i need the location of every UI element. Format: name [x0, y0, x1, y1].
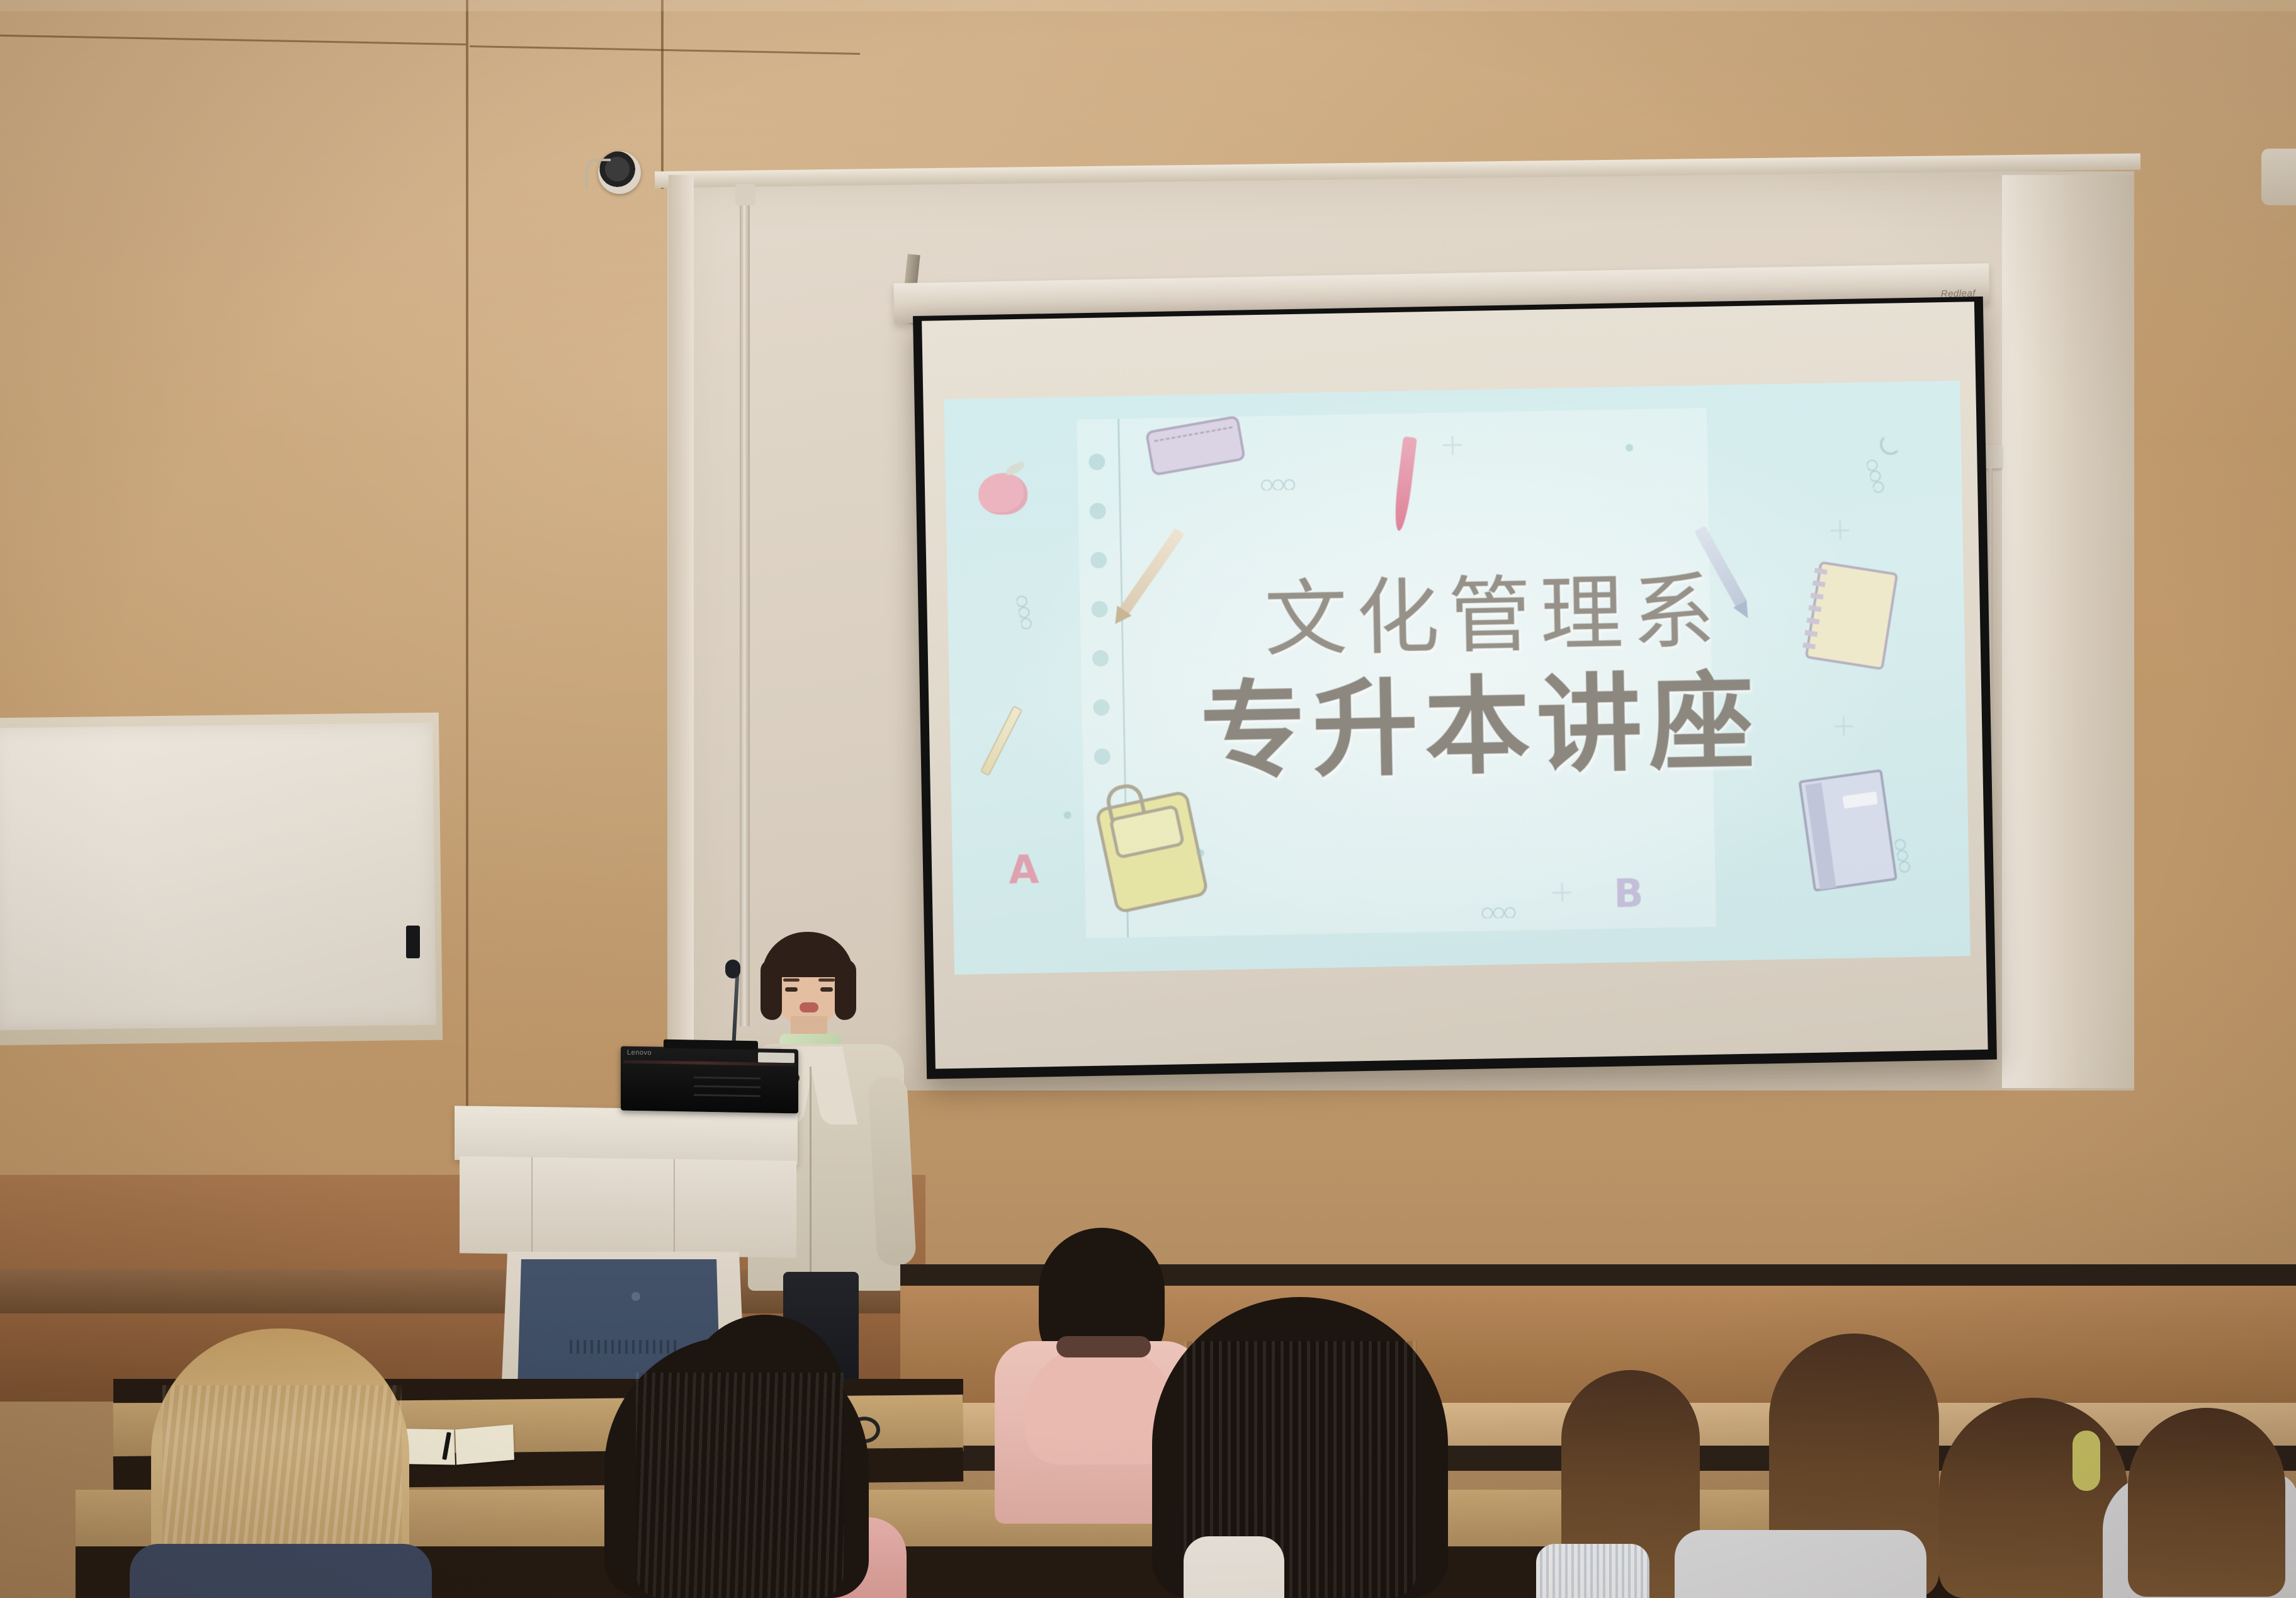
audience-shirt-stripe-right [1536, 1544, 1649, 1598]
open-notebook[interactable] [396, 1426, 517, 1466]
podium-monitor[interactable]: Lenovo [621, 1046, 798, 1114]
wall-panel-seam-vertical-2 [661, 0, 664, 189]
notebook-page-right [455, 1424, 514, 1465]
lecture-hall-photo: Redleaf A B [0, 0, 2296, 1598]
presenter-brow-right [818, 978, 835, 982]
audience-collar-pink-hoodie [1056, 1336, 1151, 1357]
monitor-screen-line-2 [694, 1085, 761, 1089]
presenter-mouth [800, 1002, 818, 1012]
audience-head-brown-4 [2128, 1408, 2285, 1597]
cable-channel-cap [735, 184, 755, 205]
presenter-coat-seam [810, 1067, 812, 1288]
wall-highlight-band [0, 0, 2296, 11]
audience-headband-yellow [2073, 1431, 2100, 1491]
slide-title-block: 文化管理系 专升本讲座 [944, 380, 1971, 975]
audience-hoodie-grey-right [1675, 1530, 1926, 1598]
monitor-brand-label: Lenovo [627, 1049, 652, 1057]
projection-screen: A B 文化管理系 专升本讲座 [913, 297, 1997, 1079]
slide-title-line-1: 文化管理系 [1264, 570, 1724, 662]
audience-hair-sheen-dark-center [636, 1373, 844, 1598]
wall-fixture-right [2261, 149, 2296, 205]
presenter-hair-right [835, 960, 856, 1020]
monitor-top-lip [664, 1040, 758, 1050]
monitor-screen-line-1 [694, 1077, 761, 1080]
presenter-eye-left [785, 987, 798, 992]
speaker-conduit [585, 159, 611, 188]
audience-head-brown-3 [1939, 1398, 2128, 1598]
screen-surface: A B 文化管理系 专升本讲座 [922, 302, 1988, 1068]
projected-slide: A B 文化管理系 专升本讲座 [944, 380, 1971, 975]
audience-shirt-white-right [1184, 1536, 1284, 1598]
presenter-hair-left [761, 960, 782, 1020]
presenter-brow-left [783, 978, 800, 982]
alcove-left-jamb [669, 175, 694, 1088]
monitor-screen-line-3 [694, 1094, 761, 1097]
podium-vent-grille [570, 1340, 677, 1354]
audience-body-blonde [130, 1544, 432, 1598]
monitor-asset-tag [758, 1052, 795, 1063]
podium-indicator-light [631, 1292, 640, 1301]
cable-channel [740, 189, 750, 1026]
podium-top-surface [455, 1106, 798, 1165]
whiteboard [0, 723, 436, 1031]
alcove-right-jamb [2002, 175, 2134, 1088]
podium-body [460, 1156, 796, 1257]
presenter-eye-right [820, 987, 833, 992]
slide-title-line-2: 专升本讲座 [1199, 669, 1762, 785]
microphone-head-icon [725, 960, 740, 978]
whiteboard-marker[interactable] [406, 926, 420, 958]
